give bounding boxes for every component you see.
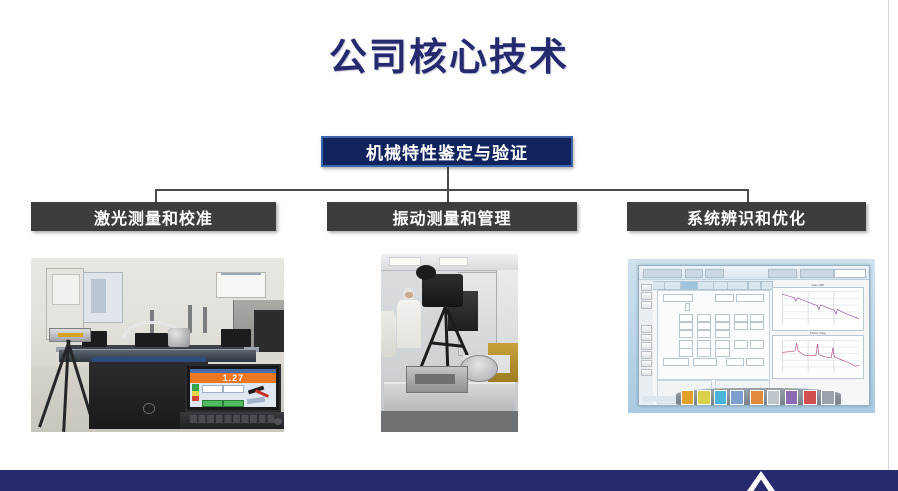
ok-indicator-2 (223, 400, 244, 407)
carriage-block-3 (221, 329, 251, 346)
ceiling-light-2 (439, 257, 468, 266)
diagram-root-node: 机械特性鉴定与验证 (321, 136, 573, 167)
equipment-rack (254, 310, 284, 352)
bode-magnitude-curve (782, 291, 859, 322)
bode-magnitude-plot: Gain (dB) (772, 287, 864, 331)
target-stand-3 (203, 307, 207, 333)
wall-poster (83, 272, 123, 323)
diagram-branch-label-3: 系统辨识和优化 (687, 205, 806, 229)
slide-canvas: 公司核心技术 机械特性鉴定与验证 激光测量和校准 振动测量和管理 系统辨识和优化 (0, 0, 898, 491)
reading-field-2 (223, 385, 244, 393)
diagram-branch-node-2: 振动测量和管理 (327, 202, 577, 231)
laptop: 1.27 (185, 364, 281, 428)
connector-root-down (447, 167, 449, 191)
computer-mouse (274, 418, 283, 424)
software-body (190, 383, 276, 408)
3d-model-preview (245, 384, 274, 406)
diagram-branch-node-1: 激光测量和校准 (31, 202, 276, 231)
ceiling-light-1 (389, 257, 421, 266)
measurement-value-display: 1.27 (190, 373, 276, 383)
laptop-base (180, 412, 284, 428)
status-gauge-bar (192, 384, 199, 402)
diagram-branch-label-2: 振动测量和管理 (392, 205, 511, 229)
system-identification-software-photo: Gain (dB) Phase (deg) (628, 259, 875, 413)
laptop-screen: 1.27 (185, 364, 281, 412)
slide-right-rule (888, 0, 889, 470)
page-title: 公司核心技术 (0, 26, 898, 81)
application-tab-strip (643, 280, 772, 289)
vibrometer-head (422, 274, 463, 308)
ok-indicator-1 (202, 400, 223, 407)
carriage-block-2 (135, 333, 168, 347)
analysis-application-window: Gain (dB) Phase (deg) (638, 265, 870, 406)
bode-phase-curve (782, 340, 859, 371)
diagram-branch-label-1: 激光测量和校准 (94, 205, 213, 229)
diagram-branch-node-3: 系统辨识和优化 (627, 202, 866, 231)
connector-horizontal-bar (155, 189, 749, 191)
laptop-keyboard (190, 415, 276, 423)
diagram-root-label: 机械特性鉴定与验证 (366, 139, 528, 164)
bode-phase-plot: Phase (deg) (772, 335, 864, 379)
measurement-software-ui: 1.27 (190, 369, 276, 407)
reading-field-1 (202, 385, 223, 393)
left-tool-rail (639, 280, 653, 405)
connector-branch-3-down (747, 189, 749, 203)
bode-magnitude-title: Gain (dB) (773, 283, 863, 287)
interferometer-optic (168, 328, 191, 347)
application-toolbar (639, 266, 869, 279)
test-fixture (406, 366, 468, 393)
connector-branch-2-down (447, 189, 449, 203)
triangle-chevron-logo (744, 470, 778, 491)
second-technician (381, 311, 396, 357)
parameter-form-panel (657, 290, 769, 381)
cleanroom-floor (381, 411, 518, 432)
wall-notice (216, 272, 266, 298)
laser-measurement-lab-photo: 1.27 (31, 258, 284, 432)
bode-phase-title: Phase (deg) (773, 331, 863, 335)
connector-branch-1-down (155, 189, 157, 203)
application-dock (676, 388, 841, 405)
vibration-measurement-cleanroom-photo (381, 254, 518, 432)
